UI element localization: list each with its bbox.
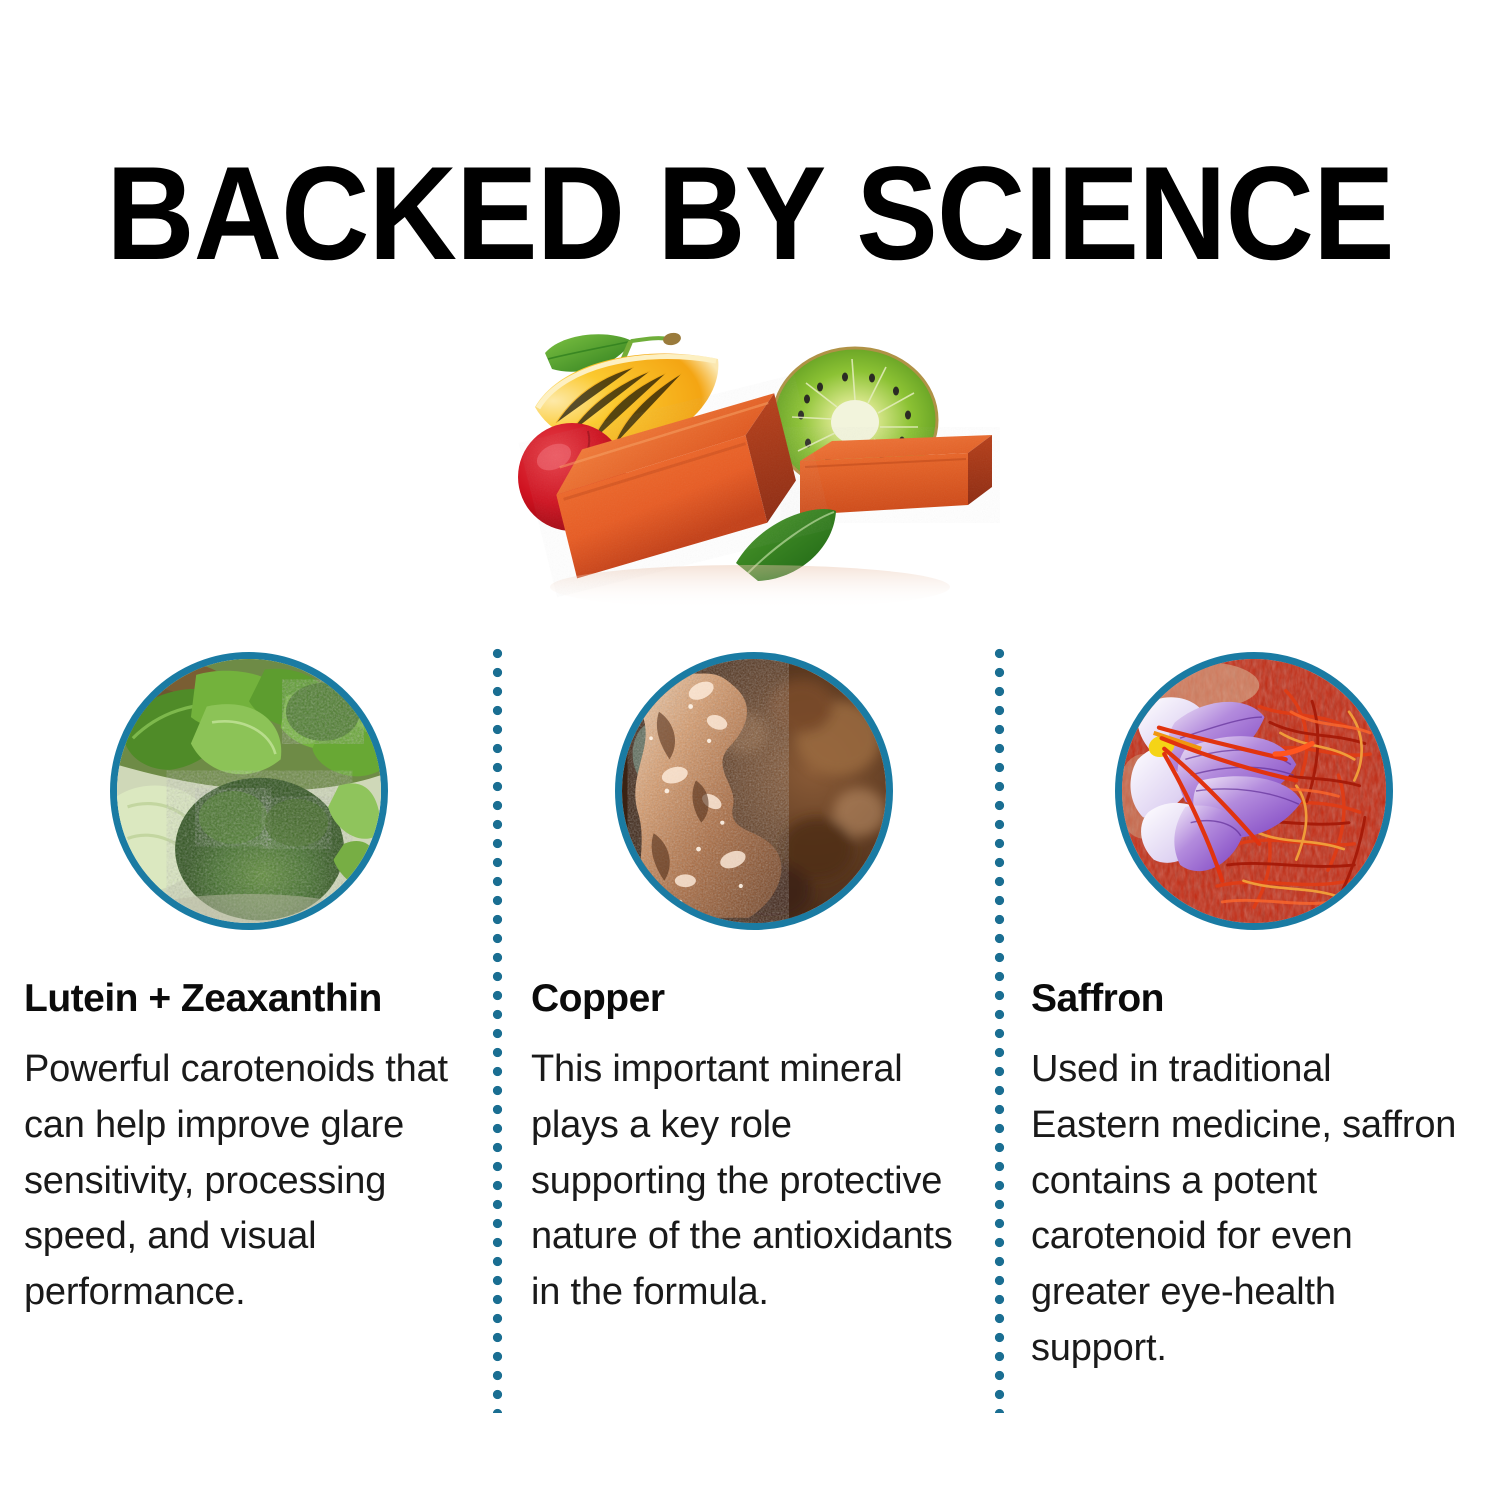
infographic-page: BACKED BY SCIENCE	[0, 0, 1500, 1500]
ingredient-title: Copper	[525, 978, 985, 1021]
ingredient-column-saffron: Saffron Used in traditional Eastern medi…	[1025, 645, 1485, 1435]
ingredient-image-wrap	[615, 652, 893, 930]
copper-ore-icon	[615, 652, 893, 930]
ingredient-column-lutein-zeaxanthin: Lutein + Zeaxanthin Powerful carotenoids…	[18, 645, 478, 1435]
broccoli-greens-icon	[110, 652, 388, 930]
ingredient-column-copper: Copper This important mineral plays a ke…	[525, 645, 985, 1435]
hero-product-image	[500, 315, 1000, 615]
saffron-crocus-icon	[1115, 652, 1393, 930]
ingredient-description: This important mineral plays a key role …	[525, 1042, 969, 1321]
ingredient-description: Powerful carotenoids that can help impro…	[18, 1042, 462, 1321]
ingredient-columns: Lutein + Zeaxanthin Powerful carotenoids…	[0, 645, 1500, 1435]
ingredient-image-wrap	[1115, 652, 1393, 930]
ingredient-image-wrap	[110, 652, 388, 930]
ingredient-description: Used in traditional Eastern medicine, sa…	[1025, 1042, 1469, 1377]
page-title: BACKED BY SCIENCE	[60, 148, 1440, 281]
chew-bar-right	[800, 435, 992, 515]
ingredient-title: Lutein + Zeaxanthin	[18, 978, 478, 1021]
ingredient-title: Saffron	[1025, 978, 1485, 1021]
